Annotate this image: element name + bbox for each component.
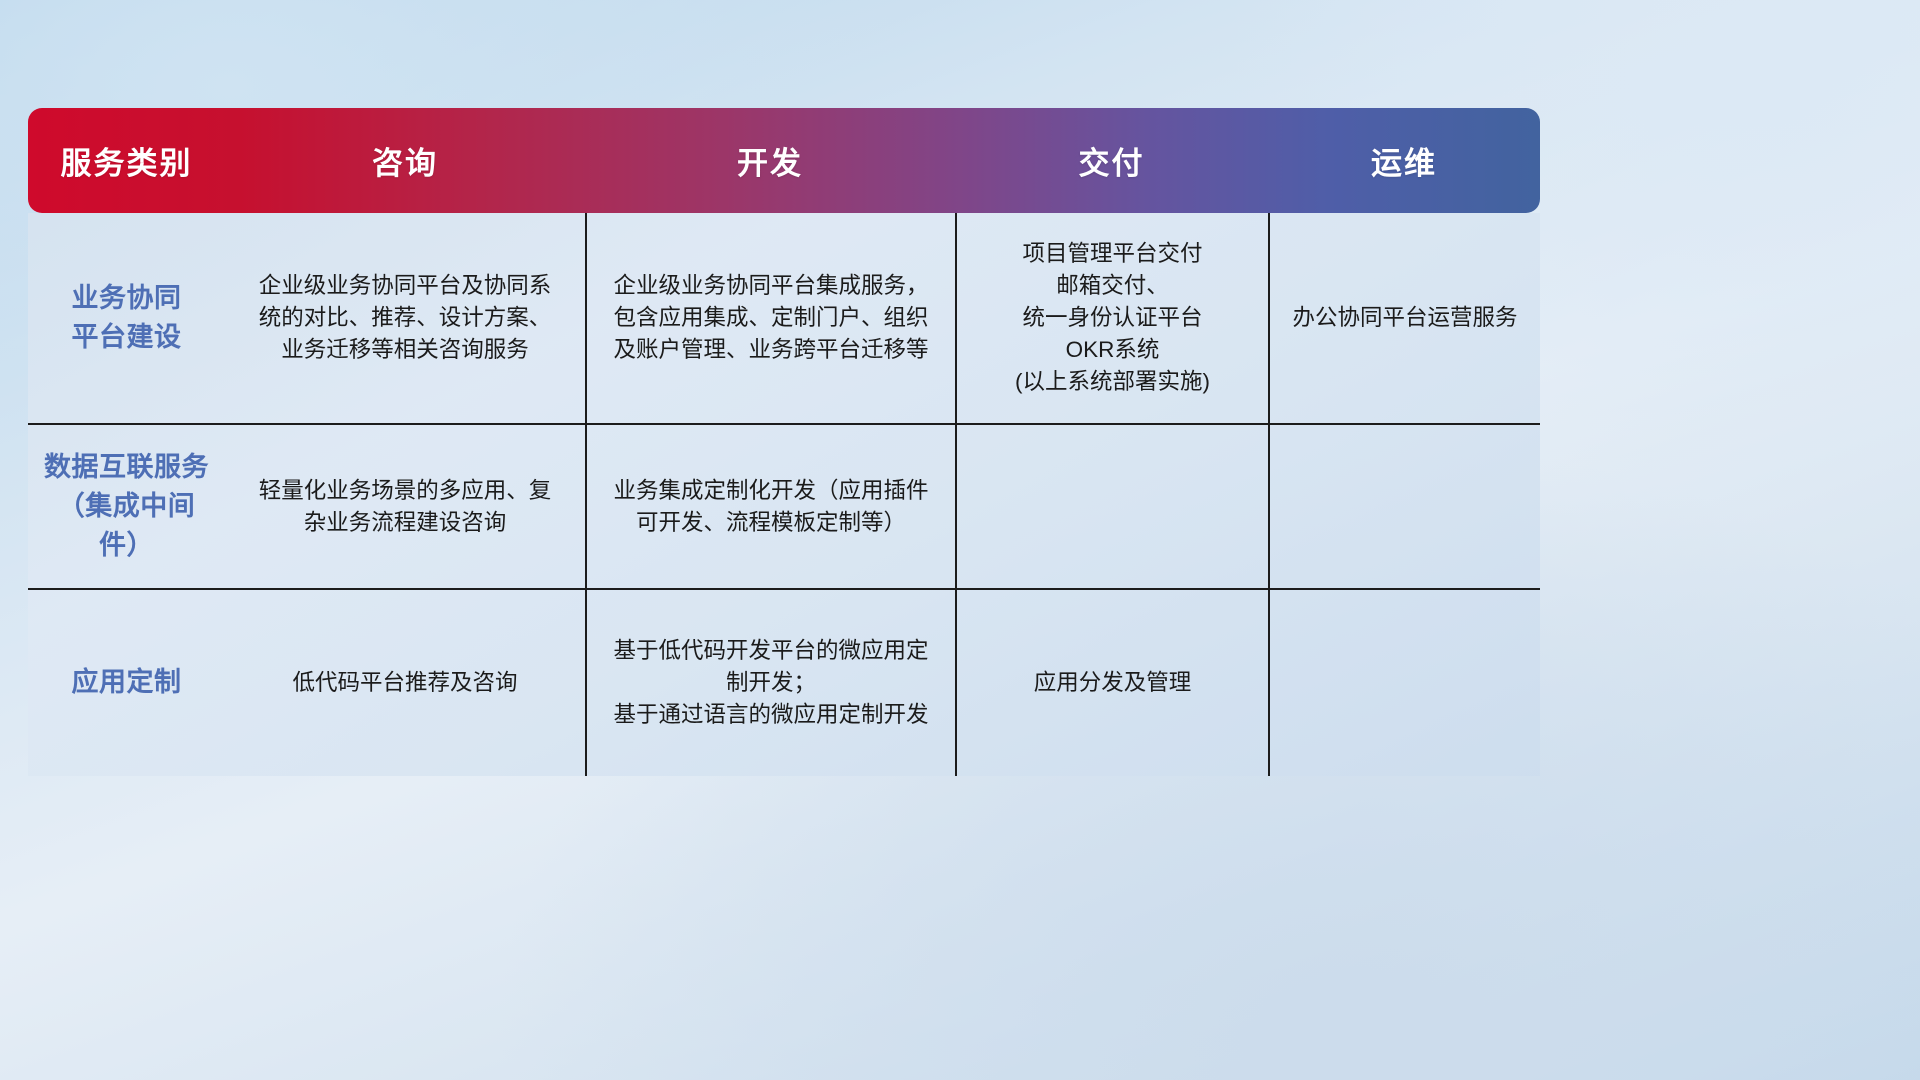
cell-delivery: 项目管理平台交付 邮箱交付、 统一身份认证平台 OKR系统 (以上系统部署实施): [955, 213, 1268, 423]
cell-consulting: 低代码平台推荐及咨询: [225, 590, 585, 776]
cell-text: 轻量化业务场景的多应用、复 杂业务流程建设咨询: [259, 475, 552, 539]
table-body: 业务协同 平台建设 企业级业务协同平台及协同系 统的对比、推荐、设计方案、 业务…: [28, 213, 1540, 776]
table-header-row: 服务类别 咨询 开发 交付 运维: [28, 108, 1540, 213]
column-header-category: 服务类别: [28, 108, 225, 213]
cell-text: 低代码平台推荐及咨询: [292, 667, 517, 699]
cell-operations: 办公协同平台运营服务: [1268, 213, 1540, 423]
cell-development: 基于低代码开发平台的微应用定 制开发； 基于通过语言的微应用定制开发: [585, 590, 955, 776]
service-matrix-table: 服务类别 咨询 开发 交付 运维 业务协同 平台建设 企业级业务协同平台及协同系…: [28, 108, 1540, 776]
column-header-operations: 运维: [1268, 108, 1540, 213]
cell-text: 业务集成定制化开发（应用插件 可开发、流程模板定制等）: [613, 475, 928, 539]
column-header-delivery: 交付: [955, 108, 1268, 213]
table-row: 数据互联服务 （集成中间件） 轻量化业务场景的多应用、复 杂业务流程建设咨询 业…: [28, 423, 1540, 588]
cell-development: 企业级业务协同平台集成服务， 包含应用集成、定制门户、组织 及账户管理、业务跨平…: [585, 213, 955, 423]
row-category-label: 业务协同 平台建设: [72, 279, 182, 357]
row-category-label: 应用定制: [72, 663, 182, 702]
cell-development: 业务集成定制化开发（应用插件 可开发、流程模板定制等）: [585, 425, 955, 588]
row-category-cell: 应用定制: [28, 590, 225, 776]
cell-operations: [1268, 590, 1540, 776]
cell-text: 企业级业务协同平台及协同系 统的对比、推荐、设计方案、 业务迁移等相关咨询服务: [259, 270, 552, 366]
row-category-label: 数据互联服务 （集成中间件）: [40, 448, 213, 565]
cell-operations: [1268, 425, 1540, 588]
column-header-development: 开发: [585, 108, 955, 213]
cell-text: 企业级业务协同平台集成服务， 包含应用集成、定制门户、组织 及账户管理、业务跨平…: [613, 270, 928, 366]
row-category-cell: 数据互联服务 （集成中间件）: [28, 425, 225, 588]
cell-text: 应用分发及管理: [1034, 667, 1192, 699]
cell-text: 项目管理平台交付 邮箱交付、 统一身份认证平台 OKR系统 (以上系统部署实施): [1015, 238, 1210, 398]
cell-text: 基于低代码开发平台的微应用定 制开发； 基于通过语言的微应用定制开发: [613, 635, 928, 731]
table-row: 业务协同 平台建设 企业级业务协同平台及协同系 统的对比、推荐、设计方案、 业务…: [28, 213, 1540, 423]
page-root: 服务类别 咨询 开发 交付 运维 业务协同 平台建设 企业级业务协同平台及协同系…: [0, 0, 1920, 1080]
row-category-cell: 业务协同 平台建设: [28, 213, 225, 423]
cell-consulting: 轻量化业务场景的多应用、复 杂业务流程建设咨询: [225, 425, 585, 588]
column-header-consulting: 咨询: [225, 108, 585, 213]
cell-text: 办公协同平台运营服务: [1292, 302, 1517, 334]
table-row: 应用定制 低代码平台推荐及咨询 基于低代码开发平台的微应用定 制开发； 基于通过…: [28, 588, 1540, 776]
cell-delivery: [955, 425, 1268, 588]
cell-consulting: 企业级业务协同平台及协同系 统的对比、推荐、设计方案、 业务迁移等相关咨询服务: [225, 213, 585, 423]
cell-delivery: 应用分发及管理: [955, 590, 1268, 776]
